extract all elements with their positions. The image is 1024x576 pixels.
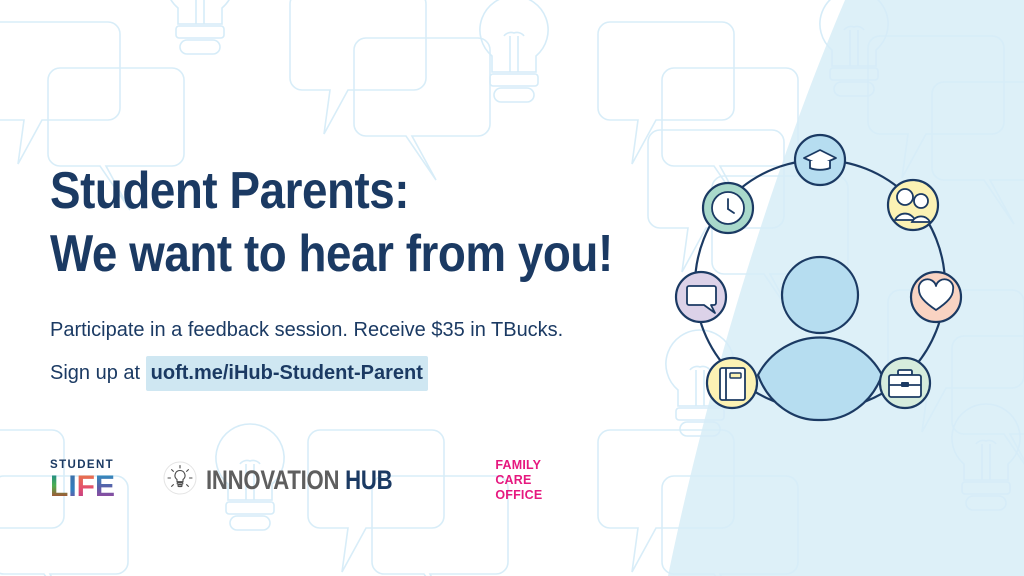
speech-bubble-icon — [676, 272, 726, 322]
student-life-logo[interactable]: STUDENT L I F E — [50, 460, 115, 500]
logo-row: STUDENT L I F E — [50, 458, 542, 502]
signup-url[interactable]: uoft.me/iHub-Student-Parent — [146, 356, 428, 391]
fco-line-1: FAMILY — [495, 458, 541, 473]
poster-canvas: Student Parents: We want to hear from yo… — [0, 0, 1024, 576]
innovation-word: INNOVATION — [206, 465, 339, 495]
graduation-cap-icon — [795, 135, 845, 185]
hub-word: HUB — [345, 465, 392, 495]
sl-letter-L: L — [50, 474, 68, 500]
page-title: Student Parents: We want to hear from yo… — [50, 160, 596, 287]
person-silhouette-icon — [758, 257, 882, 420]
fco-line-2: CARE — [495, 473, 531, 488]
headline-line-1: Student Parents: — [50, 162, 409, 220]
clock-icon — [703, 183, 753, 233]
innovation-hub-wordmark: INNOVATION HUB — [206, 465, 392, 496]
subtext-block: Participate in a feedback session. Recei… — [50, 315, 670, 391]
student-parent-support-wheel — [660, 130, 980, 430]
briefcase-icon — [880, 358, 930, 408]
sl-letter-E: E — [95, 474, 115, 500]
heart-icon — [911, 272, 961, 322]
sl-letter-I: I — [68, 474, 76, 500]
innovation-hub-logo[interactable]: INNOVATION HUB — [163, 461, 433, 500]
family-people-icon — [888, 180, 938, 230]
book-icon — [707, 358, 757, 408]
headline-line-2: We want to hear from you! — [50, 223, 596, 286]
copy-block: Student Parents: We want to hear from yo… — [50, 160, 670, 391]
subtext-line-1: Participate in a feedback session. Recei… — [50, 319, 563, 341]
student-life-bottom-word: L I F E — [50, 474, 115, 500]
lightbulb-icon — [163, 461, 197, 500]
signup-prefix: Sign up at — [50, 362, 140, 384]
fco-line-3: OFFICE — [495, 488, 542, 503]
family-care-office-logo[interactable]: FAMILY CARE OFFICE — [495, 458, 542, 502]
subtext-line-2: Sign up at uoft.me/iHub-Student-Parent — [50, 356, 670, 391]
sl-letter-F: F — [77, 474, 95, 500]
